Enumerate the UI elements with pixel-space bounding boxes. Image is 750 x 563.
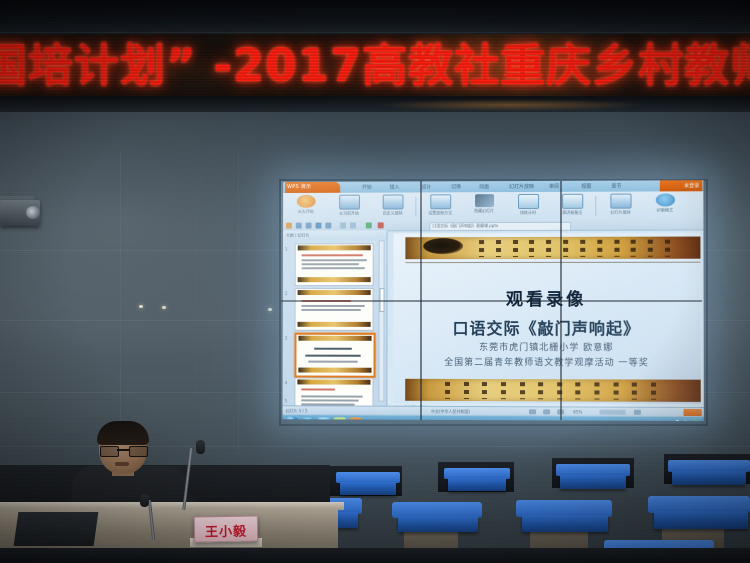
- video-wall-glass-reflection: [281, 181, 702, 420]
- seat: [522, 515, 608, 532]
- wall-light-dot: [139, 305, 143, 308]
- led-banner: 国培计划” -2017高教社重庆乡村教师网络研修: [0, 34, 750, 102]
- led-reflection: [330, 98, 690, 112]
- presenter-hair: [97, 421, 149, 445]
- nameplate: 王小毅: [194, 515, 258, 542]
- ceiling: [0, 0, 750, 34]
- glasses-icon: [100, 446, 146, 455]
- projector-lens-icon: [26, 206, 40, 219]
- wall-light-dot: [268, 308, 272, 311]
- nameplate-text: 王小毅: [195, 520, 257, 540]
- wall-seam: [238, 150, 239, 450]
- floor: [0, 548, 750, 563]
- tray-shield-icon[interactable]: [694, 420, 698, 421]
- microphone-icon: [196, 440, 205, 454]
- seat: [448, 478, 506, 491]
- seat: [672, 471, 746, 485]
- lecture-hall-photo: 国培计划” -2017高教社重庆乡村教师网络研修 WPS 演示 开始 插入 设计…: [0, 0, 750, 563]
- led-scanlines: [0, 34, 750, 102]
- laptop: [14, 512, 99, 546]
- presenter-mouth: [115, 462, 129, 466]
- seat: [340, 482, 396, 495]
- system-tray[interactable]: [675, 420, 701, 421]
- tray-network-icon[interactable]: [675, 420, 679, 421]
- wall-seam: [120, 150, 121, 450]
- wall-light-dot: [162, 306, 166, 309]
- seat: [560, 475, 626, 489]
- microphone-icon: [140, 494, 149, 507]
- seat: [654, 511, 748, 529]
- tray-volume-icon[interactable]: [684, 420, 688, 421]
- seat: [398, 516, 478, 532]
